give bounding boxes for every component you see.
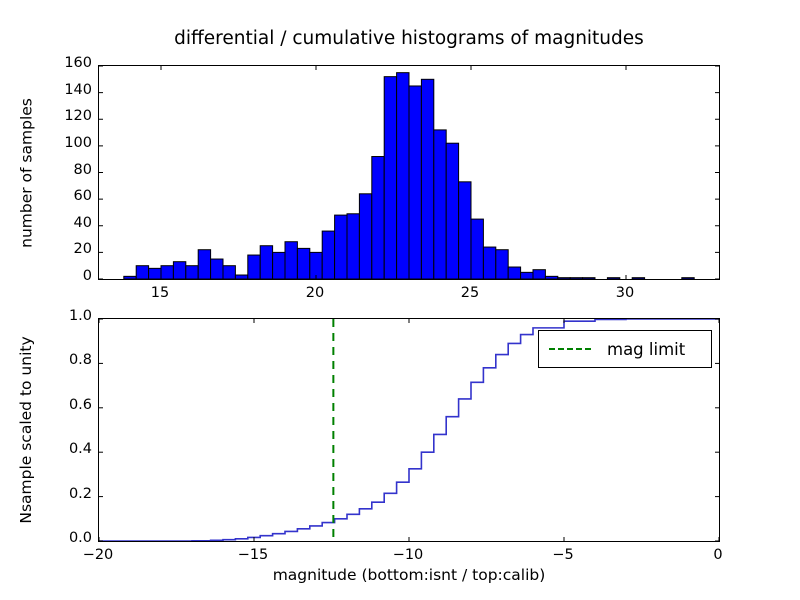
histogram-bar (521, 272, 533, 279)
bottom-xtick-label: −10 (378, 547, 438, 563)
histogram-bar (335, 215, 347, 279)
histogram-bar (260, 246, 272, 279)
top-xtick-label: 15 (130, 285, 190, 301)
bottom-ytick-label: 0.8 (40, 352, 92, 368)
histogram-bar (583, 278, 595, 279)
bottom-ytick-label: 0.6 (40, 397, 92, 413)
legend-entry-mag-limit: mag limit (607, 340, 685, 359)
top-xtick-label: 30 (595, 285, 655, 301)
histogram-bar (682, 278, 694, 279)
histogram-bar (483, 247, 495, 279)
histogram-bar (248, 255, 260, 279)
bottom-xtick-label: −5 (533, 547, 593, 563)
histogram-bar (384, 77, 396, 279)
histogram-bar (235, 275, 247, 279)
histogram-bar (459, 182, 471, 279)
histogram-bar (186, 266, 198, 279)
top-ytick-label: 120 (40, 108, 92, 124)
histogram-bar (508, 267, 520, 279)
histogram-bar (434, 130, 446, 279)
histogram-bar (409, 86, 421, 279)
top-ytick-label: 40 (40, 215, 92, 231)
histogram-bar (397, 73, 409, 279)
bottom-ytick-label: 0.4 (40, 441, 92, 457)
figure-canvas: differential / cumulative histograms of … (0, 0, 800, 600)
histogram-bar (372, 157, 384, 279)
histogram-bar (545, 276, 557, 279)
histogram-bar (211, 259, 223, 279)
histogram-bar (607, 278, 619, 279)
histogram-bar (149, 268, 161, 279)
histogram-bar (533, 270, 545, 279)
histogram-bar (471, 219, 483, 279)
top-ytick-label: 20 (40, 241, 92, 257)
top-ytick-label: 80 (40, 162, 92, 178)
histogram-bar (322, 231, 334, 279)
bottom-ytick-label: 1.0 (40, 308, 92, 324)
top-xtick-label: 20 (285, 285, 345, 301)
mag-limit-line-sample (549, 348, 591, 350)
histogram-bar (161, 266, 173, 279)
top-axis-y-label: number of samples (16, 65, 36, 280)
bottom-ytick-label: 0.2 (40, 486, 92, 502)
top-ytick-label: 0 (40, 268, 92, 284)
bottom-xtick-label: −15 (223, 547, 283, 563)
figure-title: differential / cumulative histograms of … (98, 28, 720, 49)
bottom-axis-x-label: magnitude (bottom:isnt / top:calib) (98, 566, 720, 584)
histogram-bar (359, 194, 371, 279)
histogram-bar (297, 248, 309, 279)
histogram-bar (273, 252, 285, 279)
top-ytick-label: 160 (40, 55, 92, 71)
top-ytick-label: 60 (40, 188, 92, 204)
top-axes-differential-histogram (98, 65, 720, 280)
histogram-bar (198, 250, 210, 279)
histogram-bar (496, 250, 508, 279)
histogram-bar (570, 278, 582, 279)
histogram-bar (446, 143, 458, 279)
histogram-bar (173, 262, 185, 279)
histogram-bar (124, 276, 136, 279)
top-ytick-label: 100 (40, 135, 92, 151)
histogram-bar (347, 214, 359, 279)
histogram-bar (136, 266, 148, 279)
histogram-bar (558, 278, 570, 279)
top-xtick-label: 25 (440, 285, 500, 301)
bottom-xtick-label: −20 (68, 547, 128, 563)
top-plot-svg (99, 66, 719, 279)
legend-box: mag limit (538, 330, 712, 368)
histogram-bar (421, 79, 433, 279)
histogram-bar (223, 266, 235, 279)
histogram-bar (632, 278, 644, 279)
bottom-xtick-label: 0 (688, 547, 748, 563)
bottom-axis-y-label: Nsample scaled to unity (16, 318, 36, 542)
bottom-ytick-label: 0.0 (40, 530, 92, 546)
top-ytick-label: 140 (40, 82, 92, 98)
histogram-bar (285, 242, 297, 279)
